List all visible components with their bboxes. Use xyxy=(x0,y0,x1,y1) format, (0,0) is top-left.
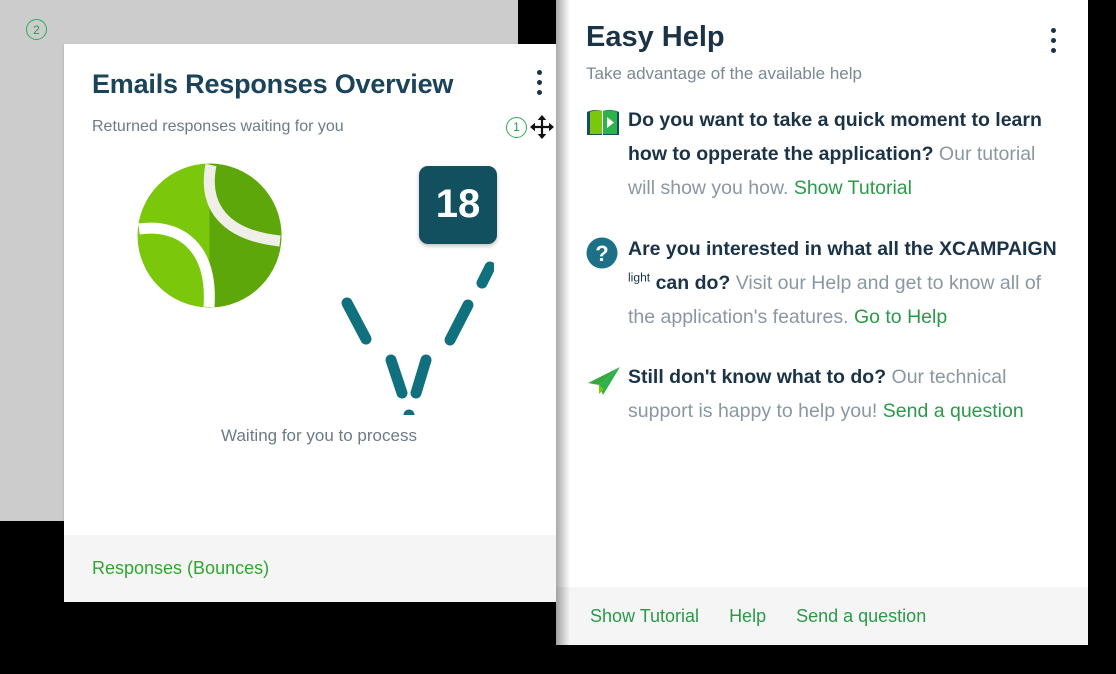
card-header: Emails Responses Overview Returned respo… xyxy=(64,44,574,140)
annotation-marker-1: 1 xyxy=(506,117,527,138)
help-items-list: Do you want to take a quick moment to le… xyxy=(556,104,1088,429)
emails-responses-overview-card: Emails Responses Overview Returned respo… xyxy=(64,44,574,602)
page-title: Emails Responses Overview xyxy=(92,70,546,100)
help-panel-footer: Show Tutorial Help Send a question xyxy=(556,587,1088,645)
help-item-question: Still don't know what to do? xyxy=(628,366,886,388)
list-item: Still don't know what to do? Our technic… xyxy=(586,361,1064,429)
send-a-question-link[interactable]: Send a question xyxy=(883,400,1024,422)
bounce-illustration: 18 xyxy=(64,140,574,440)
annotation-marker-1-label: 1 xyxy=(513,120,520,134)
help-panel-subtitle: Take advantage of the available help xyxy=(586,64,1062,84)
go-to-help-link[interactable]: Go to Help xyxy=(854,306,947,328)
list-item: Do you want to take a quick moment to le… xyxy=(586,104,1064,206)
help-item-text: Are you interested in what all the XCAMP… xyxy=(628,233,1064,335)
kebab-dot xyxy=(1051,48,1056,53)
card-footer: Responses (Bounces) xyxy=(64,535,574,602)
footer-link-send-a-question[interactable]: Send a question xyxy=(796,606,926,627)
annotation-marker-2: 2 xyxy=(26,19,47,40)
annotation-marker-2-label: 2 xyxy=(33,23,40,37)
kebab-menu-icon[interactable] xyxy=(528,68,550,96)
kebab-dot xyxy=(537,80,542,85)
kebab-dot xyxy=(537,90,542,95)
help-item-text: Still don't know what to do? Our technic… xyxy=(628,361,1064,429)
card-subtitle-row: Returned responses waiting for you 1 xyxy=(92,114,546,140)
help-item-question-post: can do? xyxy=(650,272,730,294)
question-mark-icon: ? xyxy=(586,233,628,335)
kebab-dot xyxy=(1051,38,1056,43)
footer-link-show-tutorial[interactable]: Show Tutorial xyxy=(590,606,699,627)
paper-plane-icon xyxy=(586,361,628,429)
kebab-dot xyxy=(1051,28,1056,33)
list-item: ? Are you interested in what all the XCA… xyxy=(586,233,1064,335)
responses-bounces-link[interactable]: Responses (Bounces) xyxy=(92,558,269,579)
help-item-question-superscript: light xyxy=(628,270,650,284)
kebab-dot xyxy=(537,70,542,75)
card-subtitle: Returned responses waiting for you xyxy=(92,118,344,136)
footer-link-help[interactable]: Help xyxy=(729,606,766,627)
help-panel-title: Easy Help xyxy=(586,22,1062,54)
tennis-ball-icon xyxy=(137,163,282,308)
help-item-question-pre: Are you interested in what all the XCAMP… xyxy=(628,238,1057,260)
help-panel-header: Easy Help Take advantage of the availabl… xyxy=(556,0,1088,84)
kebab-menu-icon[interactable] xyxy=(1042,26,1064,54)
help-item-text: Do you want to take a quick moment to le… xyxy=(628,104,1064,206)
status-badge: 18 xyxy=(419,166,497,244)
bounce-trajectory-icon xyxy=(294,245,494,415)
easy-help-panel: Easy Help Take advantage of the availabl… xyxy=(556,0,1088,645)
show-tutorial-link[interactable]: Show Tutorial xyxy=(794,177,912,199)
book-tutorial-icon xyxy=(586,104,628,206)
svg-text:?: ? xyxy=(595,241,608,266)
count-value: 18 xyxy=(436,182,481,227)
